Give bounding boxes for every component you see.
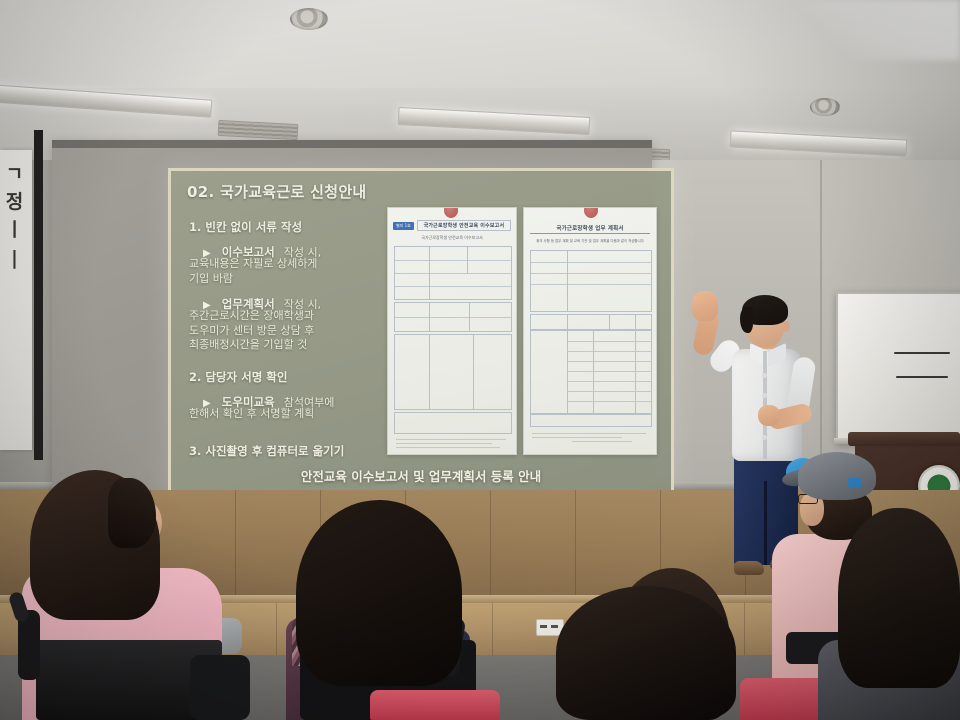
whiteboard-mark xyxy=(896,376,948,378)
slide-section-heading: 1. 빈칸 없이 서류 작성 xyxy=(189,219,302,235)
doc-right: 국가근로장학생 업무 계획서 위의 사항 등 업무 계획 및 교육 기관 및 업… xyxy=(523,207,657,455)
doc-left-table-top xyxy=(394,246,512,300)
attendee-center-hair xyxy=(296,500,462,686)
presenter-leg-split xyxy=(764,481,767,565)
doc-left-table-body xyxy=(394,334,512,410)
doc-left-header: 별지 1호 국가근로장학생 안전교육 이수보고서 xyxy=(393,220,511,231)
doc-left-title: 국가근로장학생 안전교육 이수보고서 xyxy=(417,220,511,231)
slide-bullet-body: 교육내용은 자필로 상세하게 기입 바람 xyxy=(189,257,389,286)
doc-left: 별지 1호 국가근로장학생 안전교육 이수보고서 국가근로장학생 안전교육 이수… xyxy=(387,207,517,455)
presenter-hair-side xyxy=(740,307,753,333)
presenter-hand xyxy=(758,405,780,426)
ceiling-speaker-icon xyxy=(290,8,328,30)
slide-section-heading: 3. 사진촬영 후 컴퓨터로 옮기기 xyxy=(189,443,344,459)
stamp-icon xyxy=(584,207,598,218)
podium-top xyxy=(848,432,960,446)
cap-logo-tag xyxy=(848,478,861,487)
whiteboard xyxy=(836,292,960,444)
doc-left-footnotes xyxy=(396,436,508,451)
doc-right-table-top xyxy=(530,250,652,312)
stamp-icon xyxy=(444,207,458,218)
ceiling-speaker-icon xyxy=(810,98,840,116)
projected-slide: 02. 국가교육근로 신청안내 1. 빈칸 없이 서류 작성 ▶ 이수보고서 작… xyxy=(168,168,674,494)
slide-bullet-body: 주간근로시간은 장애학생과 도우미가 센터 방문 상담 후 최종배정시간을 기입… xyxy=(189,309,389,353)
presenter-ear xyxy=(782,321,790,332)
whiteboard-mark xyxy=(894,352,950,354)
ceiling-glare xyxy=(790,0,960,60)
doc-left-signature-row xyxy=(394,412,512,434)
doc-right-title: 국가근로장학생 업무 계획서 xyxy=(530,224,650,234)
wall-banner-text: ㄱ정ㅣ| xyxy=(1,160,29,272)
presenter-shoe xyxy=(734,561,764,575)
doc-left-tag: 별지 1호 xyxy=(393,222,414,230)
slide-caption: 안전교육 이수보고서 및 업무계획서 등록 안내 xyxy=(171,466,671,485)
doc-right-hours-row xyxy=(530,314,652,330)
slide-title: 02. 국가교육근로 신청안내 xyxy=(187,181,367,202)
presenter-raised-hand xyxy=(692,291,718,321)
lecture-hall-photo: ㄱ정ㅣ| 02. 국가교육근로 신청안내 1. 빈칸 없이 서류 작성 ▶ 이수… xyxy=(0,0,960,720)
attendee-right-hair xyxy=(838,508,960,688)
banner-dark-strip xyxy=(34,130,43,460)
doc-right-subtitle: 위의 사항 등 업무 계획 및 교육 기관 및 업무 계획을 다음과 같이 작성… xyxy=(532,238,648,243)
doc-right-total-row xyxy=(530,414,652,427)
slide-section-heading: 2. 담당자 서명 확인 xyxy=(189,369,287,385)
wheelchair-wheel xyxy=(190,655,250,720)
doc-left-subtitle: 국가근로장학생 안전교육 이수보고서 xyxy=(393,235,511,241)
projection-screen-top-bar xyxy=(52,140,652,148)
attendee-front-hair xyxy=(556,586,736,720)
chair-red xyxy=(370,690,500,720)
gray-cap-icon xyxy=(798,452,876,500)
doc-right-table-schedule xyxy=(530,330,652,414)
doc-right-footnotes xyxy=(532,430,648,445)
slide-bullet-body: 한해서 확인 후 서명할 계획 xyxy=(189,407,389,422)
doc-left-table-mid xyxy=(394,302,512,332)
